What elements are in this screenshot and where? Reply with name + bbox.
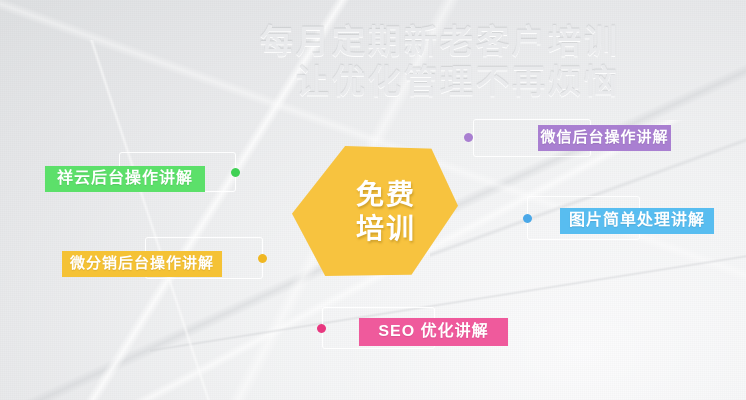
node-label-micro-distribution-admin[interactable]: 微分销后台操作讲解 [62, 251, 222, 277]
hexagon-text-line-2: 培训 [356, 212, 416, 246]
poster-canvas: 每月定期新老客户培训 让优化管理不再烦恼 微信后台操作讲解 祥云后台操作讲解 图… [0, 0, 746, 400]
hexagon-text-line-1: 免费 [356, 178, 416, 212]
node-label-wechat-admin[interactable]: 微信后台操作讲解 [538, 125, 671, 151]
poster-headline: 每月定期新老客户培训 让优化管理不再烦恼 [0, 22, 620, 102]
node-label-xiangyun-admin[interactable]: 祥云后台操作讲解 [45, 166, 205, 192]
hexagon-text: 免费 培训 [292, 146, 458, 276]
node-dot-xiangyun-admin[interactable] [231, 168, 240, 177]
center-hexagon[interactable]: 免费 培训 [292, 146, 458, 276]
node-label-image-processing[interactable]: 图片简单处理讲解 [560, 208, 714, 234]
node-dot-image-processing[interactable] [523, 214, 532, 223]
node-dot-wechat-admin[interactable] [464, 133, 473, 142]
node-label-seo-optimization[interactable]: SEO 优化讲解 [359, 318, 508, 346]
node-dot-seo-optimization[interactable] [317, 324, 326, 333]
node-dot-micro-distribution-admin[interactable] [258, 254, 267, 263]
headline-line-2: 让优化管理不再烦恼 [0, 62, 620, 102]
headline-line-1: 每月定期新老客户培训 [260, 23, 620, 60]
